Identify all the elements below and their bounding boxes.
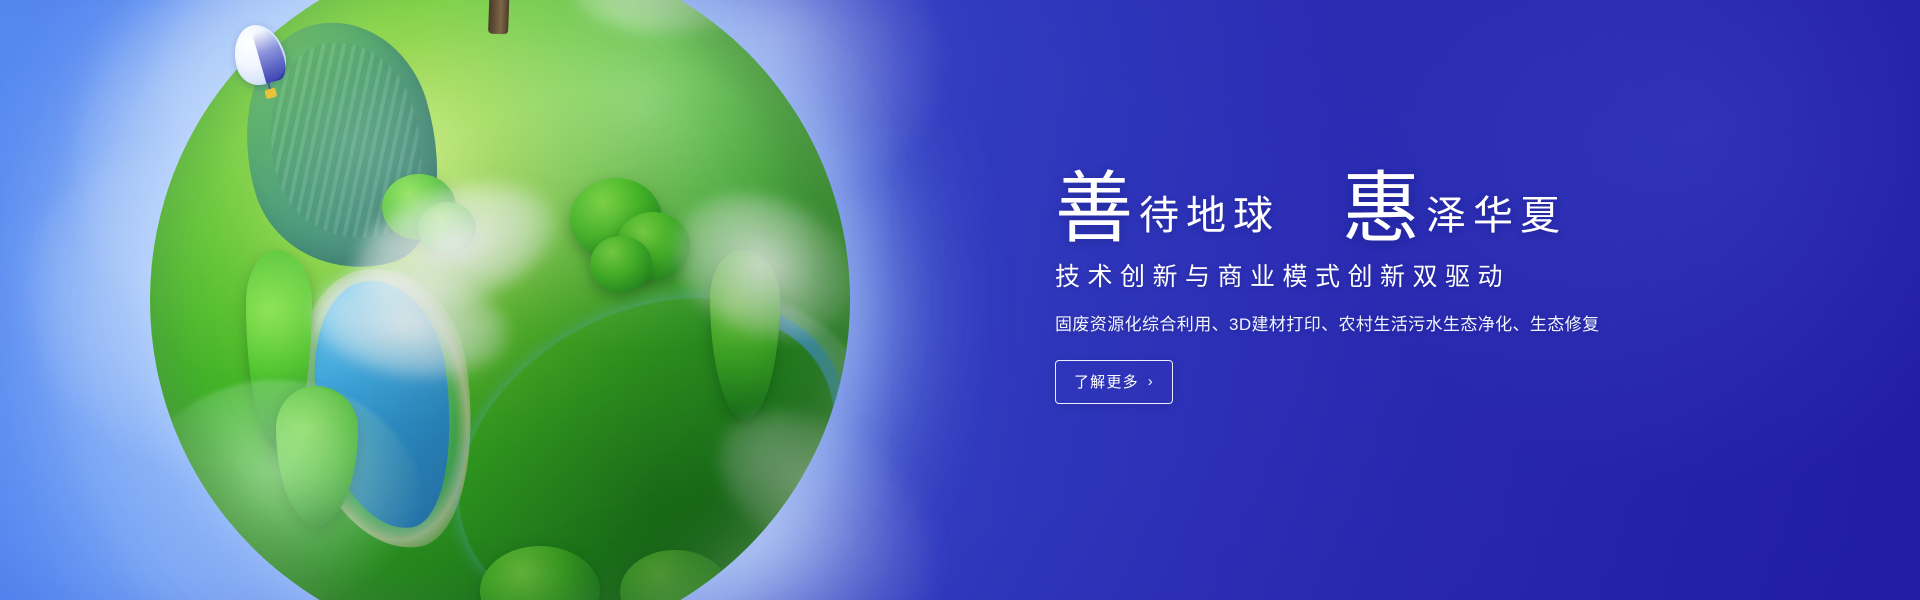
learn-more-label: 了解更多 <box>1074 371 1139 392</box>
headline-text-2: 泽华夏 <box>1426 196 1567 236</box>
headline: 善 待地球 惠 泽华夏 <box>1055 150 1745 242</box>
description: 固废资源化综合利用、3D建材打印、农村生活污水生态净化、生态修复 <box>1055 312 1745 338</box>
subtitle: 技术创新与商业模式创新双驱动 <box>1055 262 1745 292</box>
headline-text-1: 待地球 <box>1139 196 1280 236</box>
headline-char-primary-2: 惠 <box>1342 172 1420 246</box>
chevron-right-icon: › <box>1148 374 1154 389</box>
headline-char-primary-1: 善 <box>1055 172 1133 246</box>
learn-more-button[interactable]: 了解更多 › <box>1055 360 1173 404</box>
hero-content: 善 待地球 惠 泽华夏 技术创新与商业模式创新双驱动 固废资源化综合利用、3D建… <box>1055 150 1745 404</box>
hero-banner: 善 待地球 惠 泽华夏 技术创新与商业模式创新双驱动 固废资源化综合利用、3D建… <box>0 0 1920 600</box>
